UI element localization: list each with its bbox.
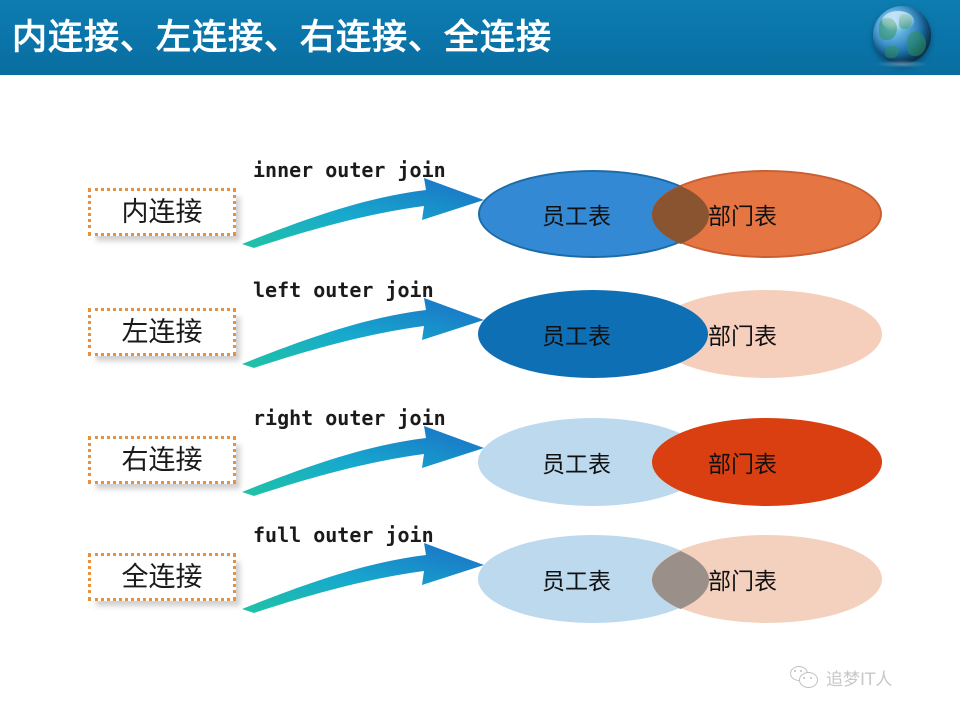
- venn-label-left: 员工表: [542, 290, 611, 378]
- join-label-box[interactable]: 内连接: [88, 188, 236, 236]
- join-row: 内连接 inner outer join 员工表 部门表: [0, 150, 960, 270]
- wechat-icon: [790, 666, 820, 688]
- curved-arrow-icon: [238, 541, 488, 613]
- watermark-text: 追梦IT人: [826, 665, 892, 690]
- venn-label-left: 员工表: [542, 535, 611, 623]
- venn-diagram: 员工表 部门表: [470, 535, 890, 625]
- venn-label-left: 员工表: [542, 418, 611, 506]
- page-title: 内连接、左连接、右连接、全连接: [12, 9, 552, 60]
- venn-diagram: 员工表 部门表: [470, 290, 890, 380]
- curved-arrow-icon: [238, 176, 488, 248]
- join-label-box[interactable]: 左连接: [88, 308, 236, 356]
- globe-icon: [870, 4, 936, 70]
- venn-label-right: 部门表: [708, 418, 777, 506]
- join-label-box[interactable]: 全连接: [88, 553, 236, 601]
- join-row: 全连接 full outer join 员工表 部门表: [0, 515, 960, 635]
- venn-overlap-region: [470, 535, 890, 625]
- join-row: 右连接 right outer join 员工表 部门表: [0, 398, 960, 518]
- curved-arrow-icon: [238, 424, 488, 496]
- venn-label-right: 部门表: [708, 170, 777, 258]
- venn-label-left: 员工表: [542, 170, 611, 258]
- venn-label-right: 部门表: [708, 290, 777, 378]
- venn-diagram: 员工表 部门表: [470, 418, 890, 508]
- curved-arrow-icon: [238, 296, 488, 368]
- join-label-text: 全连接: [122, 564, 203, 591]
- venn-diagram: 员工表 部门表: [470, 170, 890, 260]
- page-header: 内连接、左连接、右连接、全连接: [0, 0, 960, 75]
- join-label-text: 右连接: [122, 447, 203, 474]
- venn-label-right: 部门表: [708, 535, 777, 623]
- join-row: 左连接 left outer join 员工表 部门表: [0, 270, 960, 390]
- watermark: 追梦IT人: [790, 660, 950, 694]
- join-label-box[interactable]: 右连接: [88, 436, 236, 484]
- join-label-text: 左连接: [122, 319, 203, 346]
- venn-overlap-region: [470, 170, 890, 260]
- join-label-text: 内连接: [122, 199, 203, 226]
